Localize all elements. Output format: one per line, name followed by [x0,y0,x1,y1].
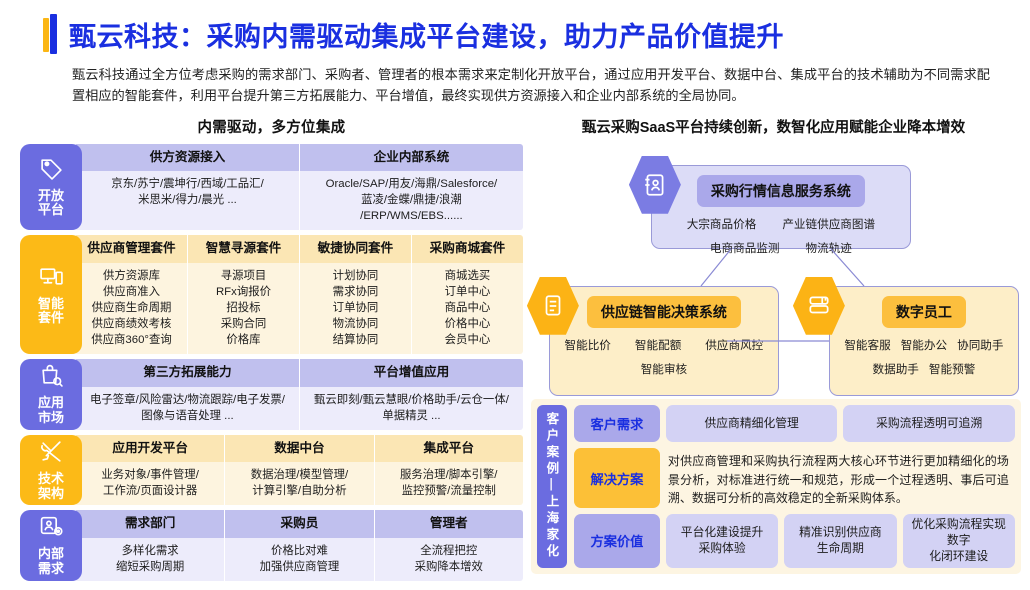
case-cell[interactable]: 平台化建设提升 采购体验 [666,514,778,568]
cell-body-text: 全流程把控 采购降本增效 [381,543,517,575]
row-badge-label: 技术 架构 [38,472,64,502]
page-title: 甄云科技：采购内需驱动集成平台建设，助力产品价值提升 [69,15,784,54]
shopping-bag-search-icon [39,363,64,392]
cell-header: 集成平台 [375,435,523,462]
cell-header: 数据中台 [225,435,373,462]
page-subtitle: 甄云科技通过全方位考虑采购的需求部门、采购者、管理者的根本需求来定制化开放平台，… [72,64,990,107]
cell-body-text: 数据治理/模型管理/ 计算引擎/自助分析 [231,467,367,499]
right-section-title: 甄云采购SaaS平台持续创新，数智化应用赋能企业降本增效 [531,116,1016,137]
cell-header: 需求部门 [76,510,224,537]
capability-matrix: 开放 平台供方资源接入京东/苏宁/震坤行/西域/工品汇/ 米思米/得力/晨光 .… [20,144,523,581]
capability-row: 应用 市场第三方拓展能力电子签章/风险雷达/物流跟踪/电子发票/ 图像与语音处理… [20,359,523,429]
cell-body-text: 业务对象/事件管理/ 工作流/页面设计器 [82,467,218,499]
cell-header: 智慧寻源套件 [188,235,299,262]
cell-body-text: 京东/苏宁/震坤行/西域/工品汇/ 米思米/得力/晨光 ... [82,176,293,208]
cell-body: 计划协同 需求协同 订单协同 物流协同 结算协同 [300,263,411,355]
id-card-hexagon [629,156,681,214]
capability-row: 技术 架构应用开发平台业务对象/事件管理/ 工作流/页面设计器数据中台数据治理/… [20,435,523,505]
row-cells: 需求部门多样化需求 缩短采购周期采购员价格比对难 加强供应商管理管理者全流程把控… [76,510,523,580]
case-cell-group: 平台化建设提升 采购体验精准识别供应商 生命周期优化采购流程实现数字 化闭环建设 [666,514,1015,568]
case-row: 解决方案对供应商管理和采购执行流程两大核心环节进行更加精细化的场景分析，对标准进… [574,448,1015,508]
tools-icon [39,439,64,464]
case-cell[interactable]: 优化采购流程实现数字 化闭环建设 [903,514,1015,568]
hexagon-shape [793,277,845,335]
left-column: 内需驱动，多方位集成 开放 平台供方资源接入京东/苏宁/震坤行/西域/工品汇/ … [20,116,523,586]
devices-icon [39,264,64,293]
cell-body-text: 寻源项目 RFx询报价 招投标 采购合同 价格库 [194,268,293,349]
matrix-cell[interactable]: 管理者全流程把控 采购降本增效 [375,510,523,580]
infographic-page: 甄云科技：采购内需驱动集成平台建设，助力产品价值提升 甄云科技通过全方位考虑采购… [0,0,1030,590]
document-icon [540,293,566,319]
cell-body: 甄云即刻/甄云慧眼/价格助手/云仓一体/ 单据精灵 ... [300,387,523,430]
case-paragraph: 对供应商管理和采购执行流程两大核心环节进行更加精细化的场景分析，对标准进行统一和… [666,448,1015,508]
customer-case-panel: 客户案例—上海家化 客户需求供应商精细化管理采购流程透明可追溯解决方案对供应商管… [531,399,1021,574]
document-hexagon [527,277,579,335]
cell-body: 服务治理/脚本引擎/ 监控预警/流量控制 [375,462,523,505]
saas-platform-diagram: 采购行情信息服务系统 大宗商品价格 产业链供应商图谱 电商商品监测 物流轨迹 [531,143,1016,415]
row-cells: 供方资源接入京东/苏宁/震坤行/西域/工品汇/ 米思米/得力/晨光 ...企业内… [76,144,523,231]
case-row: 方案价值平台化建设提升 采购体验精准识别供应商 生命周期优化采购流程实现数字 化… [574,514,1015,568]
row-badge-label: 开放 平台 [38,189,64,219]
cell-header: 采购商城套件 [412,235,523,262]
case-row-label[interactable]: 方案价值 [574,514,660,568]
cell-body-text: 甄云即刻/甄云慧眼/价格助手/云仓一体/ 单据精灵 ... [306,392,517,424]
tools-icon [39,439,64,468]
user-settings-icon [39,514,64,539]
cell-header: 第三方拓展能力 [76,359,299,386]
cell-header: 应用开发平台 [76,435,224,462]
cell-body-text: 供方资源库 供应商准入 供应商生命周期 供应商绩效考核 供应商360°查询 [82,268,181,349]
cell-body: 京东/苏宁/震坤行/西域/工品汇/ 米思米/得力/晨光 ... [76,171,299,231]
row-badge[interactable]: 内部 需求 [20,510,82,580]
cell-body: 寻源项目 RFx询报价 招投标 采购合同 价格库 [188,263,299,355]
row-badge[interactable]: 技术 架构 [20,435,82,505]
row-badge-label: 内部 需求 [38,547,64,577]
id-card-icon [642,172,668,198]
case-row-label[interactable]: 解决方案 [574,448,660,508]
matrix-cell[interactable]: 第三方拓展能力电子签章/风险雷达/物流跟踪/电子发票/ 图像与语音处理 ... [76,359,300,429]
tag-icon [39,156,64,185]
row-cells: 供应商管理套件供方资源库 供应商准入 供应商生命周期 供应商绩效考核 供应商36… [76,235,523,354]
cell-body: 商城选买 订单中心 商品中心 价格中心 会员中心 [412,263,523,355]
matrix-cell[interactable]: 需求部门多样化需求 缩短采购周期 [76,510,225,580]
cell-body-text: 多样化需求 缩短采购周期 [82,543,218,575]
cell-body: 业务对象/事件管理/ 工作流/页面设计器 [76,462,224,505]
capability-row: 智能 套件供应商管理套件供方资源库 供应商准入 供应商生命周期 供应商绩效考核 … [20,235,523,354]
matrix-cell[interactable]: 集成平台服务治理/脚本引擎/ 监控预警/流量控制 [375,435,523,505]
case-side-label: 客户案例—上海家化 [537,405,567,568]
cell-header: 供应商管理套件 [76,235,187,262]
cell-body-text: Oracle/SAP/用友/海鼎/Salesforce/ 蓝凌/金蝶/鼎捷/浪潮… [306,176,517,225]
case-cell[interactable]: 精准识别供应商 生命周期 [784,514,896,568]
right-column: 甄云采购SaaS平台持续创新，数智化应用赋能企业降本增效 采购行情信息服务系统 … [531,116,1016,586]
matrix-cell[interactable]: 应用开发平台业务对象/事件管理/ 工作流/页面设计器 [76,435,225,505]
capability-row: 开放 平台供方资源接入京东/苏宁/震坤行/西域/工品汇/ 米思米/得力/晨光 .… [20,144,523,231]
cell-body: 数据治理/模型管理/ 计算引擎/自助分析 [225,462,373,505]
devices-icon [39,264,64,289]
cell-header: 平台增值应用 [300,359,523,386]
user-settings-icon [39,514,64,543]
cell-header: 供方资源接入 [76,144,299,171]
cell-header: 采购员 [225,510,373,537]
matrix-cell[interactable]: 平台增值应用甄云即刻/甄云慧眼/价格助手/云仓一体/ 单据精灵 ... [300,359,523,429]
hexagon-shape [629,156,681,214]
row-badge[interactable]: 智能 套件 [20,235,82,354]
matrix-cell[interactable]: 数据中台数据治理/模型管理/ 计算引擎/自助分析 [225,435,374,505]
row-cells: 应用开发平台业务对象/事件管理/ 工作流/页面设计器数据中台数据治理/模型管理/… [76,435,523,505]
cell-body-text: 计划协同 需求协同 订单协同 物流协同 结算协同 [306,268,405,349]
cell-body-text: 商城选买 订单中心 商品中心 价格中心 会员中心 [418,268,517,349]
row-cells: 第三方拓展能力电子签章/风险雷达/物流跟踪/电子发票/ 图像与语音处理 ...平… [76,359,523,429]
cell-body-text: 价格比对难 加强供应商管理 [231,543,367,575]
matrix-cell[interactable]: 采购商城套件商城选买 订单中心 商品中心 价格中心 会员中心 [412,235,523,354]
book-stack-hexagon [793,277,845,335]
book-stack-icon [806,293,832,319]
row-badge-label: 智能 套件 [38,297,64,327]
cell-body: 多样化需求 缩短采购周期 [76,538,224,581]
case-rows: 客户需求供应商精细化管理采购流程透明可追溯解决方案对供应商管理和采购执行流程两大… [574,405,1015,568]
hexagon-shape [527,277,579,335]
cell-body: 供方资源库 供应商准入 供应商生命周期 供应商绩效考核 供应商360°查询 [76,263,187,355]
page-header: 甄云科技：采购内需驱动集成平台建设，助力产品价值提升 甄云科技通过全方位考虑采购… [0,0,1030,107]
matrix-cell[interactable]: 供方资源接入京东/苏宁/震坤行/西域/工品汇/ 米思米/得力/晨光 ... [76,144,300,231]
row-badge[interactable]: 应用 市场 [20,359,82,429]
row-badge[interactable]: 开放 平台 [20,144,82,231]
cell-body-text: 电子签章/风险雷达/物流跟踪/电子发票/ 图像与语音处理 ... [82,392,293,424]
matrix-cell[interactable]: 供应商管理套件供方资源库 供应商准入 供应商生命周期 供应商绩效考核 供应商36… [76,235,188,354]
cell-header: 企业内部系统 [300,144,523,171]
cell-body-text: 服务治理/脚本引擎/ 监控预警/流量控制 [381,467,517,499]
left-section-title: 内需驱动，多方位集成 [20,116,523,137]
matrix-cell[interactable]: 敏捷协同套件计划协同 需求协同 订单协同 物流协同 结算协同 [300,235,412,354]
cell-body: 电子签章/风险雷达/物流跟踪/电子发票/ 图像与语音处理 ... [76,387,299,430]
tag-icon [39,156,64,181]
body-columns: 内需驱动，多方位集成 开放 平台供方资源接入京东/苏宁/震坤行/西域/工品汇/ … [0,107,1030,586]
cell-body: 全流程把控 采购降本增效 [375,538,523,581]
cell-body: 价格比对难 加强供应商管理 [225,538,373,581]
cell-body: Oracle/SAP/用友/海鼎/Salesforce/ 蓝凌/金蝶/鼎捷/浪潮… [300,171,523,231]
cell-header: 管理者 [375,510,523,537]
cell-header: 敏捷协同套件 [300,235,411,262]
diagram-connectors [531,143,1021,415]
matrix-cell[interactable]: 企业内部系统Oracle/SAP/用友/海鼎/Salesforce/ 蓝凌/金蝶… [300,144,523,231]
matrix-cell[interactable]: 智慧寻源套件寻源项目 RFx询报价 招投标 采购合同 价格库 [188,235,300,354]
capability-row: 内部 需求需求部门多样化需求 缩短采购周期采购员价格比对难 加强供应商管理管理者… [20,510,523,580]
title-row: 甄云科技：采购内需驱动集成平台建设，助力产品价值提升 [50,14,1004,54]
title-accent-bar [50,14,57,54]
shopping-bag-search-icon [39,363,64,388]
row-badge-label: 应用 市场 [38,396,64,426]
matrix-cell[interactable]: 采购员价格比对难 加强供应商管理 [225,510,374,580]
